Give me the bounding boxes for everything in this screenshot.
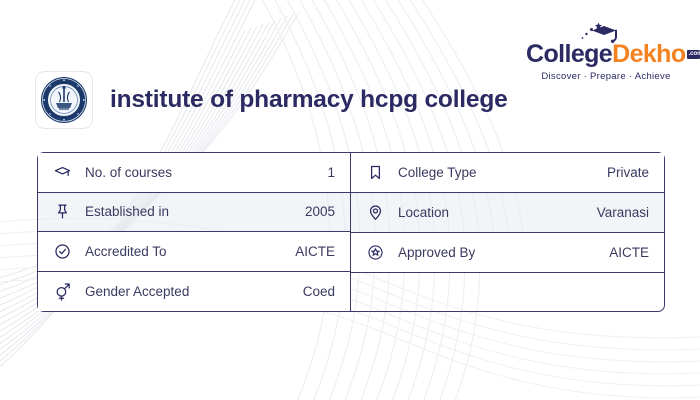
logo-text-college: College <box>526 40 612 68</box>
row-value: AICTE <box>609 245 649 260</box>
bookmark-icon <box>367 164 389 181</box>
row-value: Coed <box>303 284 335 299</box>
table-row: No. of courses 1 <box>38 153 350 193</box>
table-row: Accredited To AICTE <box>38 232 350 272</box>
row-value: AICTE <box>295 244 335 259</box>
table-row: Established in 2005 <box>38 193 350 233</box>
row-label: Location <box>389 205 597 220</box>
row-label: College Type <box>389 165 607 180</box>
row-value: Private <box>607 165 649 180</box>
info-table-left: No. of courses 1 Established in 2005 <box>37 152 350 312</box>
logo-wordmark: CollegeDekho.com <box>526 42 686 67</box>
logo-tagline: Discover · Prepare · Achieve <box>526 72 686 82</box>
row-label: Approved By <box>389 245 609 260</box>
pin-icon <box>54 203 76 220</box>
collegedekho-logo[interactable]: CollegeDekho.com Discover · Prepare · Ac… <box>526 22 686 82</box>
college-info-tables: No. of courses 1 Established in 2005 <box>37 152 665 312</box>
row-value: Varanasi <box>597 205 649 220</box>
row-value: 1 <box>327 165 335 180</box>
logo-dotcom-badge: .com <box>687 50 700 59</box>
table-row: Location Varanasi <box>351 193 664 233</box>
row-label: No. of courses <box>76 165 327 180</box>
table-row: Approved By AICTE <box>351 233 664 273</box>
info-table-right: College Type Private Location Varanasi <box>350 152 665 312</box>
map-pin-icon <box>367 204 389 221</box>
college-seal-emblem <box>40 76 88 124</box>
table-row: College Type Private <box>351 153 664 193</box>
page-title: institute of pharmacy hcpg college <box>110 86 508 114</box>
row-label: Established in <box>76 204 305 219</box>
college-info-card: CollegeDekho.com Discover · Prepare · Ac… <box>0 0 700 400</box>
table-empty-area <box>351 273 664 311</box>
graduation-cap-icon <box>54 164 76 181</box>
row-label: Accredited To <box>76 244 295 259</box>
logo-text-dekho: Dekho <box>612 40 685 68</box>
row-value: 2005 <box>305 204 335 219</box>
row-label: Gender Accepted <box>76 284 303 299</box>
college-seal-logo <box>36 72 92 128</box>
check-circle-icon <box>54 243 76 260</box>
logo-graduation-cap-and-stars <box>526 22 686 44</box>
gender-icon <box>54 282 76 301</box>
college-header: institute of pharmacy hcpg college <box>36 72 508 128</box>
award-badge-icon <box>367 244 389 261</box>
table-row: Gender Accepted Coed <box>38 272 350 311</box>
